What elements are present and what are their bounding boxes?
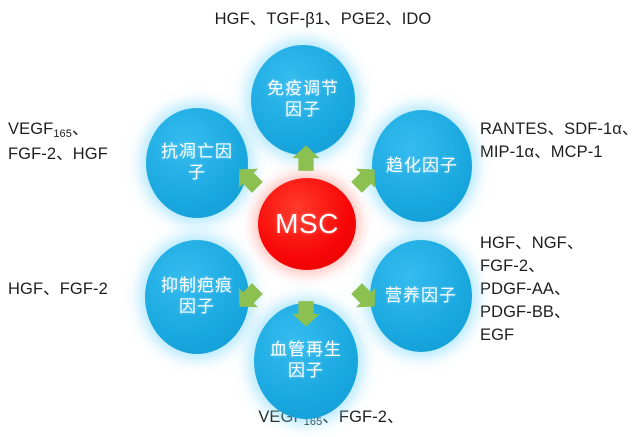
node-immunomodulatory-label: 免疫调节因子	[251, 79, 355, 121]
label-chemotactic-factors: RANTES、SDF-1α、MIP-1α、MCP-1	[480, 118, 640, 164]
node-immunomodulatory[interactable]: 免疫调节因子	[251, 45, 355, 155]
node-chemotactic[interactable]: 趋化因子	[372, 110, 472, 222]
node-msc-center[interactable]: MSC	[258, 178, 356, 270]
node-msc-center-label: MSC	[275, 208, 339, 240]
label-trophic-factors: HGF、NGF、 FGF-2、 PDGF-AA、 PDGF-BB、 EGF	[480, 232, 640, 347]
node-angiogenic-label: 血管再生因子	[254, 340, 358, 382]
node-antiapoptotic[interactable]: 抗凋亡因子	[146, 108, 248, 218]
diagram-canvas: HGF、TGF-β1、PGE2、IDO VEGF165、FGF-2、HGF HG…	[0, 0, 640, 437]
label-immunomodulatory-factors: HGF、TGF-β1、PGE2、IDO	[168, 8, 478, 31]
arrow-up-icon	[289, 142, 323, 176]
node-chemotactic-label: 趋化因子	[374, 156, 470, 177]
label-antiapoptotic-factors: VEGF165、FGF-2、HGF	[8, 118, 148, 166]
label-scar-inhibiting-factors: HGF、FGF-2	[8, 278, 148, 301]
arrow-down-icon	[289, 296, 323, 330]
